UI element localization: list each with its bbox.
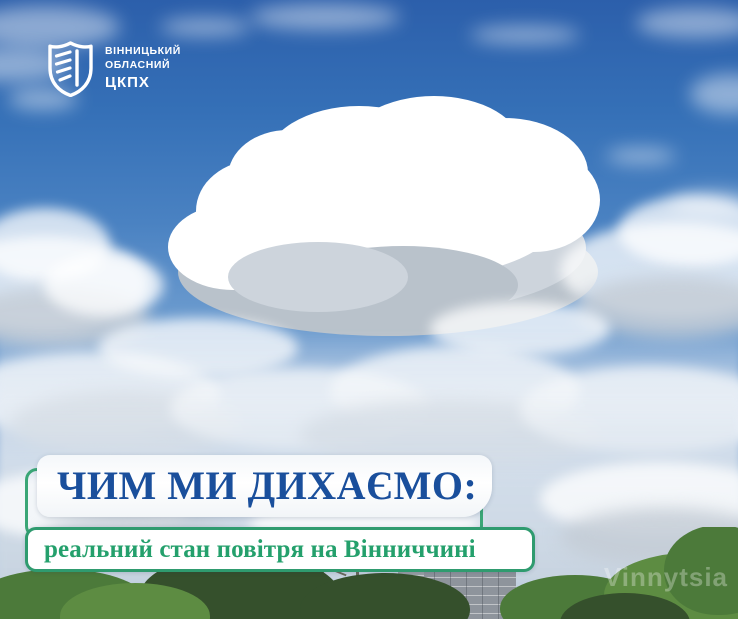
organization-logo: ВІННИЦЬКИЙ ОБЛАСНИЙ ЦКПХ (47, 41, 181, 97)
logo-wordmark: ВІННИЦЬКИЙ ОБЛАСНИЙ ЦКПХ (105, 45, 181, 92)
headline-title: ЧИМ МИ ДИХАЄМО: (57, 466, 477, 506)
cloud-wisp (470, 26, 580, 44)
logo-line-1: ВІННИЦЬКИЙ (105, 45, 181, 58)
logo-line-3: ЦКПХ (105, 73, 181, 92)
logo-line-2: ОБЛАСНИЙ (105, 59, 181, 72)
cloud-wisp (606, 148, 676, 164)
headline-subtitle-banner: реальний стан повітря на Вінниччині (25, 527, 535, 572)
poster-canvas: Vinnytsia ВІННИЦЬКИЙ ОБЛАСНИЙ ЦКПХ (0, 0, 738, 619)
cloud-left-cluster (44, 254, 164, 316)
cloud-wisp (250, 4, 400, 30)
headline-title-banner: ЧИМ МИ ДИХАЄМО: (37, 455, 492, 517)
cloud-wisp (160, 18, 250, 36)
shield-icon (47, 41, 94, 97)
headline-subtitle: реальний стан повітря на Вінниччині (44, 537, 476, 562)
headline-group: ЧИМ МИ ДИХАЄМО: реальний стан повітря на… (0, 446, 738, 586)
